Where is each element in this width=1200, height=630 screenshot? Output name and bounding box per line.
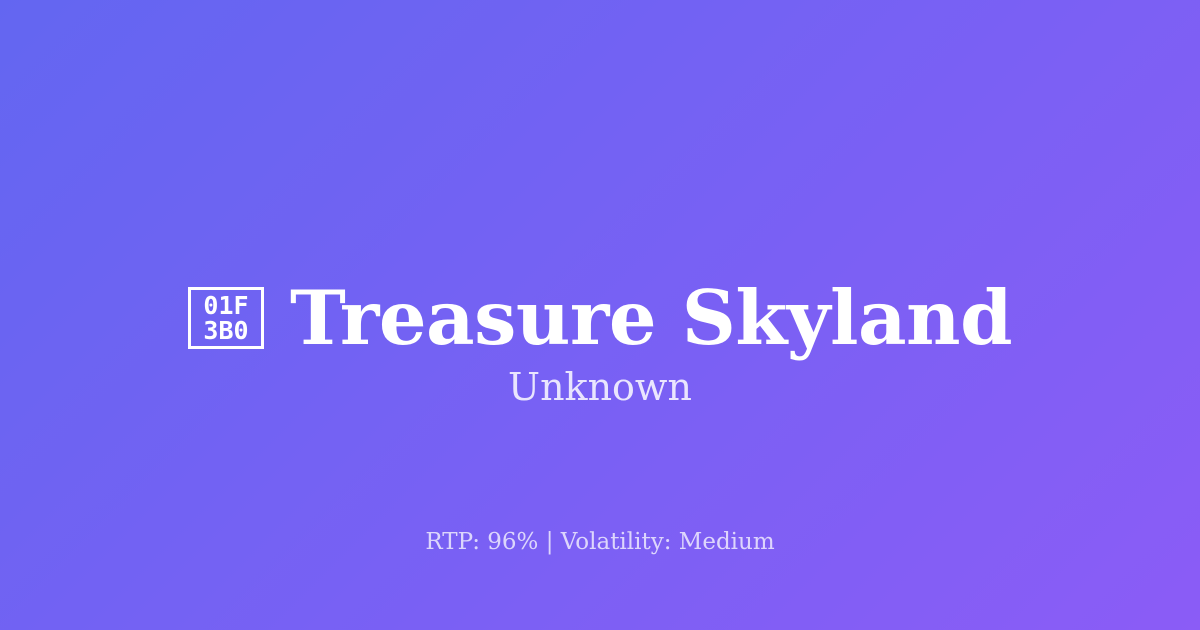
tofu-codepoint-bottom: 3B0 [203,318,248,343]
provider-subtitle: Unknown [0,363,1200,411]
og-share-card: 01F 3B0 Treasure Skyland Unknown RTP: 96… [0,0,1200,630]
tofu-codepoint-top: 01F [203,293,248,318]
page-title: Treasure Skyland [290,276,1012,360]
game-stats-line: RTP: 96% | Volatility: Medium [0,527,1200,557]
slot-machine-icon: 01F 3B0 [188,287,264,349]
